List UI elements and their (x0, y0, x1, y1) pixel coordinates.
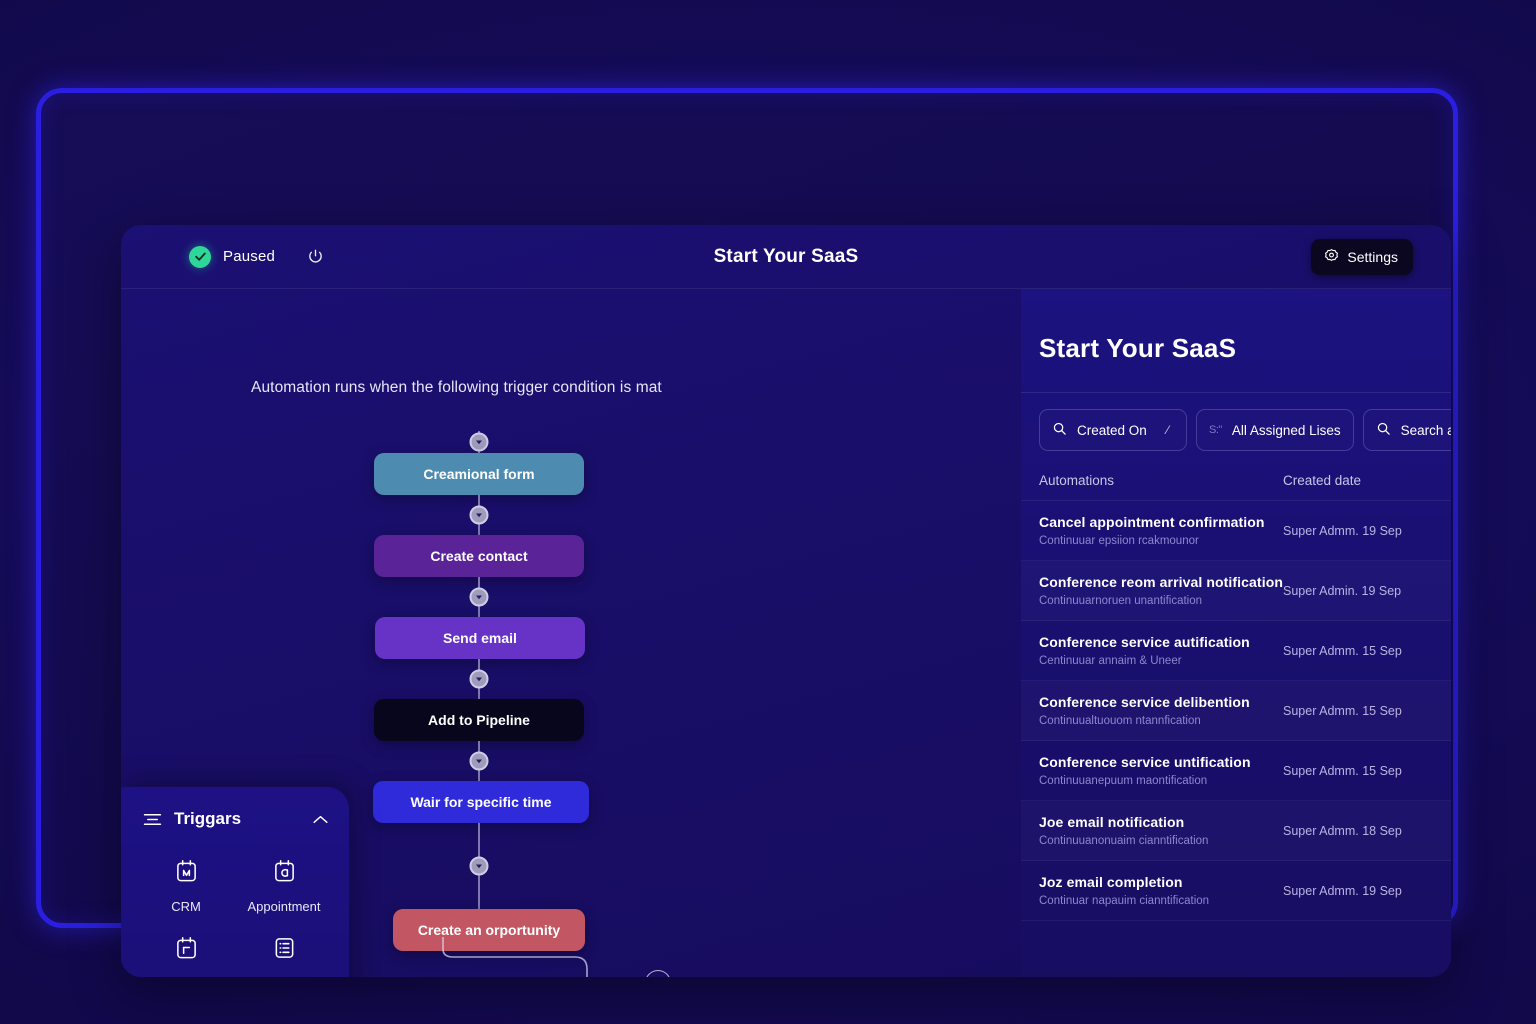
calendar-crm-icon (175, 859, 198, 888)
row-date: Super Admm. 19 Sep (1283, 884, 1433, 898)
outer-frame: Paused Start Your SaaS Settings (36, 88, 1458, 928)
row-main: Conference service autification Centinuu… (1039, 634, 1283, 667)
row-date: Super Admm. 18 Sep (1283, 824, 1433, 838)
search-icon (1052, 421, 1067, 439)
row-title: Conference service autification (1039, 634, 1283, 650)
flow-node-create-contact[interactable]: Create contact (374, 535, 584, 577)
trigger-item-crm[interactable]: CRM (137, 859, 235, 914)
row-main: Cancel appointment confirmation Continuu… (1039, 514, 1283, 547)
flow-connector (478, 495, 480, 535)
automations-table: Cancel appointment confirmation Continuu… (1021, 501, 1451, 921)
row-title: Conference service untification (1039, 754, 1283, 770)
trigger-grid: CRM Appointment (121, 859, 349, 977)
flow-node-label: Creamional form (423, 466, 534, 482)
filter-caret: ⁄ (1167, 423, 1169, 437)
automations-panel: Start Your SaaS Created On ⁄ S:" All Ass… (1021, 289, 1451, 977)
filter-created-on[interactable]: Created On ⁄ (1039, 409, 1187, 451)
table-row[interactable]: Conference service delibention Continuua… (1021, 681, 1451, 741)
flow-node-add-to-pipeline[interactable]: Add to Pipeline (374, 699, 584, 741)
table-row[interactable]: Conference service untification Continuu… (1021, 741, 1451, 801)
flow-connector (478, 823, 480, 909)
row-date: Super Admm. 19 Sep (1283, 524, 1433, 538)
column-header-created-date: Created date (1283, 473, 1433, 488)
row-main: Conference reom arrival notification Con… (1039, 574, 1283, 607)
trigger-label: Forms (168, 976, 205, 977)
row-title: Conference reom arrival notification (1039, 574, 1283, 590)
menu-icon[interactable] (143, 812, 162, 827)
table-row[interactable]: Cancel appointment confirmation Continuu… (1021, 501, 1451, 561)
row-subtitle: Continuar napauim cianntification (1039, 895, 1283, 907)
trigger-label: Appointment (248, 899, 321, 914)
table-row[interactable]: Joz email completion Continuar napauim c… (1021, 861, 1451, 921)
trigger-caption: Automation runs when the following trigg… (251, 379, 662, 397)
column-header-automations: Automations (1039, 473, 1283, 488)
trigger-item-appointment[interactable]: Appointment (235, 859, 333, 914)
filter-prefix: S:" (1209, 424, 1222, 436)
triggers-panel: Triggars (121, 787, 349, 977)
table-row[interactable]: Conference reom arrival notification Con… (1021, 561, 1451, 621)
flow-node-label: Create contact (430, 548, 527, 564)
connector-add-icon[interactable] (470, 433, 489, 452)
check-circle-icon (189, 246, 211, 268)
flow-node-label: Wair for specific time (410, 794, 551, 810)
connector-add-icon[interactable] (470, 670, 489, 689)
row-main: Joe email notification Continuuanonuaim … (1039, 814, 1283, 847)
row-date: Super Admm. 15 Sep (1283, 644, 1433, 658)
row-date: Super Admm. 15 Sep (1283, 764, 1433, 778)
row-subtitle: Continuuarnoruen unantification (1039, 595, 1283, 607)
search-icon (1376, 421, 1391, 439)
trigger-label: CRM (171, 899, 201, 914)
flow-connector (478, 577, 480, 617)
row-subtitle: Continuuanepuum maontification (1039, 775, 1283, 787)
triggers-header: Triggars (121, 809, 349, 829)
body: Automation runs when the following trigg… (121, 289, 1451, 977)
filter-label: All Assigned Lises (1232, 423, 1341, 438)
flow-chain: Creamional form Create contact (329, 431, 629, 951)
connector-add-icon[interactable] (470, 506, 489, 525)
panel-title: Start Your SaaS (1021, 289, 1451, 364)
row-subtitle: Continuuanonuaim cianntification (1039, 835, 1283, 847)
table-row[interactable]: Conference service autification Centinuu… (1021, 621, 1451, 681)
table-header: Automations Created date (1021, 451, 1451, 501)
branch-path (435, 935, 625, 977)
power-icon[interactable] (307, 248, 324, 265)
top-bar: Paused Start Your SaaS Settings (121, 225, 1451, 289)
row-subtitle: Centinuuar annaim & Uneer (1039, 655, 1283, 667)
chevron-up-icon[interactable] (312, 814, 329, 825)
filter-bar: Created On ⁄ S:" All Assigned Lises Sear… (1021, 393, 1451, 451)
row-title: Cancel appointment confirmation (1039, 514, 1283, 530)
calendar-appointment-icon (273, 859, 296, 888)
status-label: Paused (223, 248, 275, 265)
branch-action-edit-button[interactable] (645, 970, 671, 977)
flow-connector (478, 431, 480, 453)
row-title: Conference service delibention (1039, 694, 1283, 710)
row-subtitle: Continuualtuouom ntannfication (1039, 715, 1283, 727)
app-window: Paused Start Your SaaS Settings (121, 225, 1451, 977)
connector-add-icon[interactable] (470, 857, 489, 876)
flow-connector (478, 741, 480, 781)
row-main: Joz email completion Continuar napauim c… (1039, 874, 1283, 907)
row-main: Conference service delibention Continuua… (1039, 694, 1283, 727)
search-placeholder: Search all... (1401, 423, 1451, 438)
row-main: Conference service untification Continuu… (1039, 754, 1283, 787)
search-input[interactable]: Search all... (1363, 409, 1451, 451)
calendar-forms-icon (175, 936, 198, 965)
automation-canvas: Automation runs when the following trigg… (121, 289, 1021, 977)
flow-node-send-email[interactable]: Send email (375, 617, 585, 659)
row-date: Super Admm. 15 Sep (1283, 704, 1433, 718)
calendar-survey-icon (273, 936, 296, 965)
settings-button[interactable]: Settings (1311, 239, 1413, 275)
trigger-item-forms[interactable]: Forms (137, 936, 235, 977)
row-date: Super Admin. 19 Sep (1283, 584, 1433, 598)
trigger-label: Survery (262, 976, 307, 977)
connector-add-icon[interactable] (470, 752, 489, 771)
flow-connector (478, 659, 480, 699)
trigger-item-survey[interactable]: Survery (235, 936, 333, 977)
triggers-title: Triggars (174, 809, 300, 829)
status-group: Paused (189, 246, 324, 268)
flow-node-wait[interactable]: Wair for specific time (373, 781, 589, 823)
row-title: Joz email completion (1039, 874, 1283, 890)
flow-node-form[interactable]: Creamional form (374, 453, 584, 495)
flow-node-label: Add to Pipeline (428, 712, 530, 728)
row-title: Joe email notification (1039, 814, 1283, 830)
row-subtitle: Continuuar epsiion rcakmounor (1039, 535, 1283, 547)
gear-icon (1324, 248, 1339, 266)
flow-node-label: Send email (443, 630, 517, 646)
table-row[interactable]: Joe email notification Continuuanonuaim … (1021, 801, 1451, 861)
filter-label: Created On (1077, 423, 1147, 438)
filter-all-assigned[interactable]: S:" All Assigned Lises (1196, 409, 1354, 451)
connector-add-icon[interactable] (470, 588, 489, 607)
settings-label: Settings (1347, 249, 1398, 265)
